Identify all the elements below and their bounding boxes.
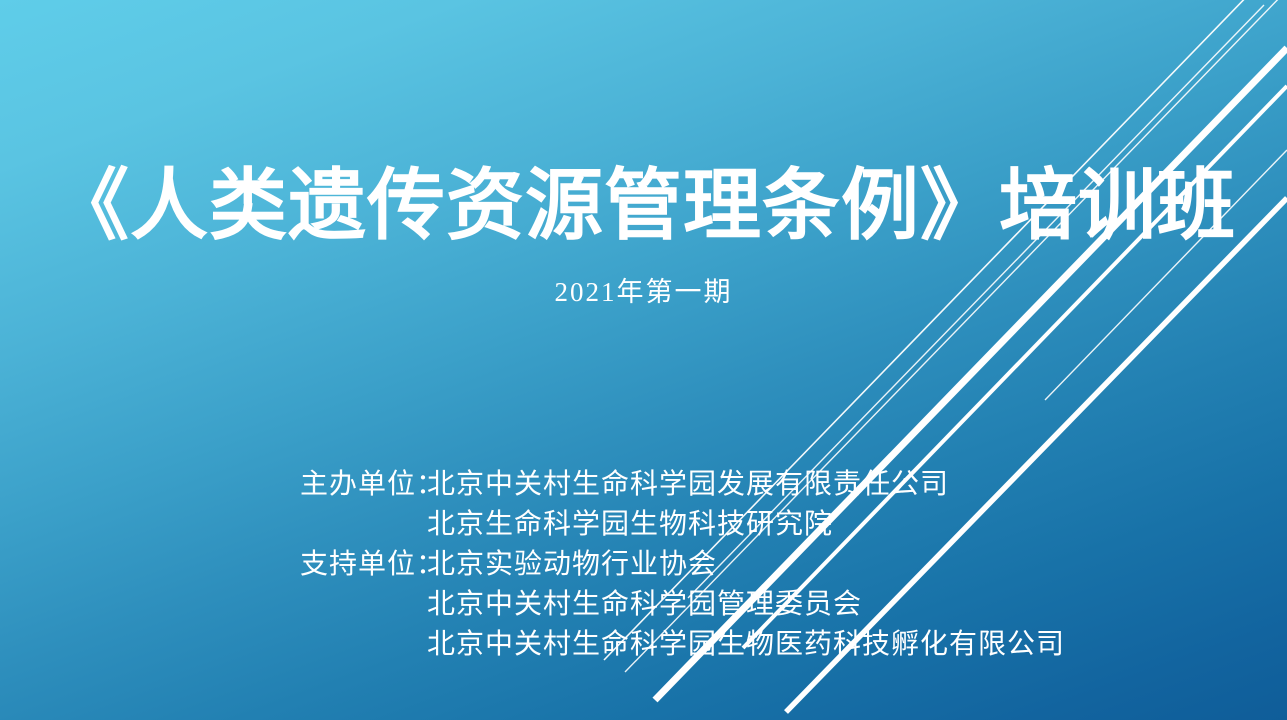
organizations-block: 主办单位： 北京中关村生命科学园发展有限责任公司 主办单位： 北京生命科学园生物… xyxy=(300,465,1065,665)
organizer-name: 北京中关村生命科学园发展有限责任公司 xyxy=(427,465,949,505)
organization-row: 支持单位： 北京中关村生命科学园管理委员会 xyxy=(300,585,1065,625)
page-subtitle: 2021年第一期 xyxy=(0,275,1287,309)
supporter-name: 北京中关村生命科学园生物医药科技孵化有限公司 xyxy=(427,625,1065,665)
organizer-label: 主办单位： xyxy=(300,465,427,505)
supporter-name: 北京中关村生命科学园管理委员会 xyxy=(427,585,862,625)
presentation-title-slide: 《人类遗传资源管理条例》培训班 2021年第一期 主办单位： 北京中关村生命科学… xyxy=(0,0,1287,720)
page-title: 《人类遗传资源管理条例》培训班 xyxy=(0,158,1287,254)
organization-row: 支持单位： 北京中关村生命科学园生物医药科技孵化有限公司 xyxy=(300,625,1065,665)
organization-row: 主办单位： 北京中关村生命科学园发展有限责任公司 xyxy=(300,465,1065,505)
organizer-name: 北京生命科学园生物科技研究院 xyxy=(427,505,833,545)
organization-row: 主办单位： 北京生命科学园生物科技研究院 xyxy=(300,505,1065,545)
supporter-name: 北京实验动物行业协会 xyxy=(427,545,717,585)
supporter-label: 支持单位： xyxy=(300,545,427,585)
organization-row: 支持单位： 北京实验动物行业协会 xyxy=(300,545,1065,585)
